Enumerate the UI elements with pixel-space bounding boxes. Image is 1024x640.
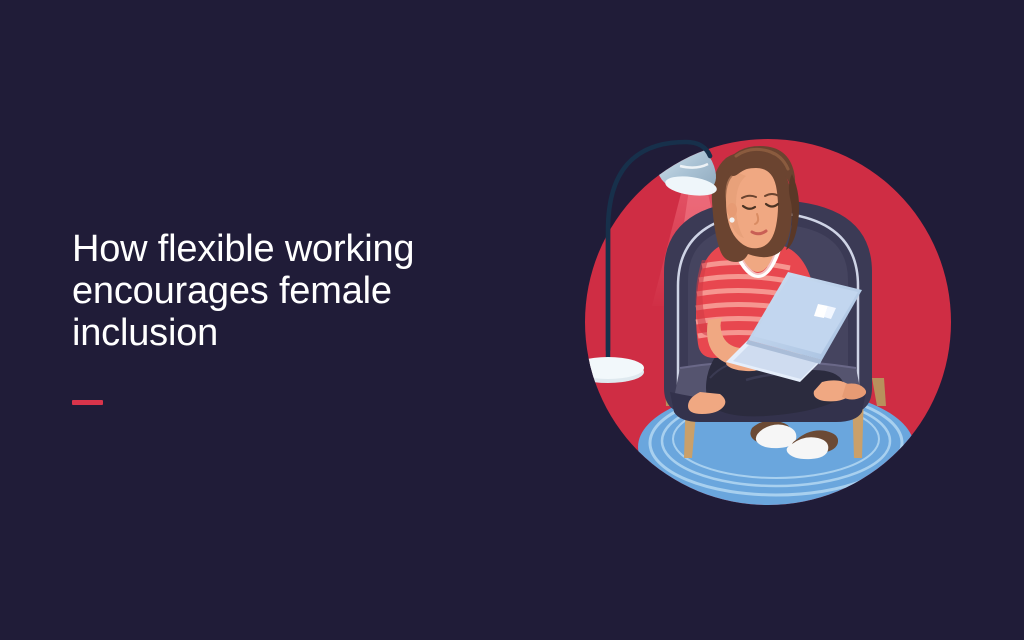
page-title: How flexible working encourages female i… bbox=[72, 228, 502, 354]
red-underline-accent bbox=[72, 400, 103, 405]
illustration-svg bbox=[560, 110, 980, 530]
slide-canvas: How flexible working encourages female i… bbox=[0, 0, 1024, 640]
lamp-base bbox=[572, 357, 644, 383]
headline-block: How flexible working encourages female i… bbox=[72, 228, 502, 354]
hero-illustration bbox=[560, 110, 980, 530]
